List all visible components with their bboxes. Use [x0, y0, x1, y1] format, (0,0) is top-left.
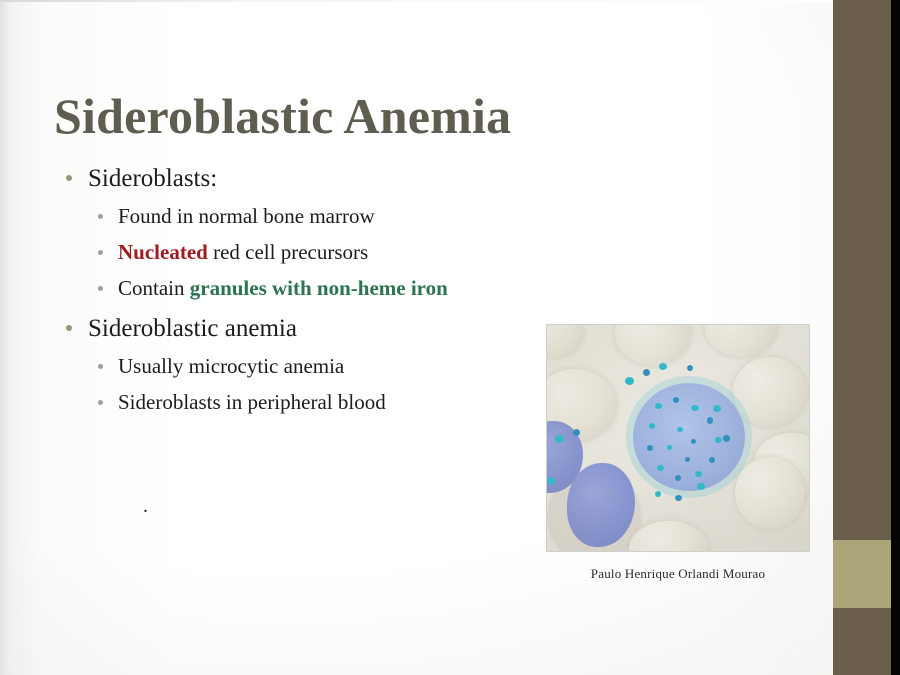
bullet-dot-icon: [98, 364, 103, 369]
bullet-level2-suffix: red cell precursors: [208, 240, 368, 264]
bullet-level2-peripheral-blood: Sideroblasts in peripheral blood: [60, 384, 580, 420]
bullet-level2-text: Found in normal bone marrow: [118, 204, 375, 228]
bullet-level2-found-in-marrow: Found in normal bone marrow: [60, 198, 580, 234]
sub-list-sideroblasts: Found in normal bone marrow Nucleated re…: [60, 198, 580, 306]
slide-right-edge: [891, 0, 900, 675]
stray-period-mark: .: [143, 496, 148, 516]
figure-caption: Paulo Henrique Orlandi Mourao: [546, 566, 810, 582]
bullet-level2-text: Usually microcytic anemia: [118, 354, 344, 378]
bullet-dot-icon: [98, 400, 103, 405]
bullet-level2-granules-iron: Contain granules with non-heme iron: [60, 270, 580, 306]
emphasis-granules-non-heme-iron: granules with non-heme iron: [190, 276, 448, 300]
bullet-dot-icon: [66, 325, 72, 331]
bullet-level1-sideroblastic-anemia: Sideroblastic anemia: [60, 312, 580, 345]
slide-right-band-accent: [833, 540, 892, 608]
bullet-level2-microcytic-anemia: Usually microcytic anemia: [60, 348, 580, 384]
bullet-level2-nucleated-precursors: Nucleated red cell precursors: [60, 234, 580, 270]
slide-canvas: Sideroblastic Anemia Sideroblasts: Found…: [0, 0, 833, 675]
presentation-slide: Sideroblastic Anemia Sideroblasts: Found…: [0, 0, 900, 675]
figure-sideroblast-micrograph: Paulo Henrique Orlandi Mourao: [546, 324, 810, 582]
bullet-dot-icon: [98, 214, 103, 219]
bullet-dot-icon: [98, 250, 103, 255]
bullet-dot-icon: [66, 175, 72, 181]
page-title: Sideroblastic Anemia: [54, 88, 511, 146]
sub-list-sideroblastic-anemia: Usually microcytic anemia Sideroblasts i…: [60, 348, 580, 420]
bullet-level2-prefix: Contain: [118, 276, 190, 300]
micrograph-image: [546, 324, 810, 552]
blood-smear-illustration: [547, 325, 809, 551]
emphasis-nucleated: Nucleated: [118, 240, 208, 264]
bullet-level1-label: Sideroblasts:: [88, 165, 217, 192]
slide-body-content: Sideroblasts: Found in normal bone marro…: [60, 162, 580, 427]
bullet-level2-text: Sideroblasts in peripheral blood: [118, 390, 386, 414]
bullet-dot-icon: [98, 286, 103, 291]
bullet-level1-label: Sideroblastic anemia: [88, 315, 297, 342]
bullet-level1-sideroblasts: Sideroblasts:: [60, 162, 580, 195]
